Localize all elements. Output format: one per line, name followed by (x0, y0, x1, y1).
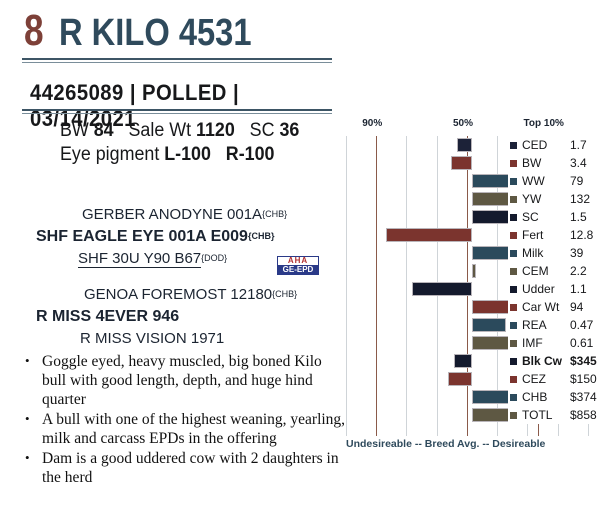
pedigree-sire-dam-sup: {DOD} (201, 253, 227, 263)
legend-trait-value: 1.5 (570, 210, 587, 224)
legend-trait-name: Udder (522, 282, 570, 296)
divider-mid (22, 109, 332, 111)
legend-trait-name: Blk Cw (522, 354, 570, 368)
aha-badge-line1: AHA (278, 257, 318, 265)
chart-legend-row: Car Wt94 (508, 298, 604, 316)
pedigree-sire-sire-name: GERBER ANODYNE 001A (82, 206, 262, 223)
legend-trait-value: 39 (570, 246, 583, 260)
catalog-entry-left-column: 8 R KILO 4531 44265089 | POLLED | 03/14/… (0, 0, 340, 516)
legend-trait-value: 132 (570, 192, 590, 206)
legend-swatch-icon (510, 142, 517, 149)
divider-top-thin (22, 62, 332, 63)
chart-legend-row: CHB$374 (508, 388, 604, 406)
stats-row-eye-pigment: Eye pigment L-100 R-100 (60, 144, 274, 166)
legend-trait-name: TOTL (522, 408, 570, 422)
legend-trait-value: $374 (570, 390, 597, 404)
chart-header-labels: 90%50%Top 10% (340, 118, 604, 136)
aha-ge-epd-badge-icon: AHA GE-EPD (277, 256, 319, 275)
stat-value-sc: 36 (279, 120, 299, 141)
chart-legend-row: CED1.7 (508, 136, 604, 154)
legend-swatch-icon (510, 340, 517, 347)
chart-bar (386, 228, 472, 242)
animal-name: R KILO 4531 (59, 12, 252, 55)
chart-legend-row: BW3.4 (508, 154, 604, 172)
legend-trait-value: $150 (570, 372, 597, 386)
legend-swatch-icon (510, 232, 517, 239)
legend-trait-value: 94 (570, 300, 583, 314)
pedigree-sire-dam: SHF 30U Y90 B67{DOD} (78, 250, 227, 267)
stat-label-eye-pigment: Eye pigment (60, 144, 159, 165)
legend-trait-name: Car Wt (522, 300, 570, 314)
stat-value-eye-pigment-right: R-100 (226, 144, 275, 165)
list-item: Dam is a good uddered cow with 2 daughte… (42, 449, 348, 487)
legend-swatch-icon (510, 376, 517, 383)
legend-trait-name: CED (522, 138, 570, 152)
chart-legend-row: REA0.47 (508, 316, 604, 334)
chart-bar (454, 354, 472, 368)
stat-value-sale-wt: 1120 (196, 120, 235, 141)
pedigree-sire-sire: GERBER ANODYNE 001A{CHB} (82, 206, 287, 223)
chart-legend-row: Milk39 (508, 244, 604, 262)
chart-legend-row: Blk Cw$345 (508, 352, 604, 370)
pedigree-dam-dam: R MISS VISION 1971 (80, 330, 224, 347)
chart-legend-row: Fert12.8 (508, 226, 604, 244)
legend-swatch-icon (510, 160, 517, 167)
chart-legend-row: Udder1.1 (508, 280, 604, 298)
epd-percentile-chart: 90%50%Top 10% CED1.7BW3.4WW79YW132SC1.5F… (340, 118, 604, 458)
legend-trait-value: $345 (570, 354, 597, 368)
chart-bar (472, 318, 506, 332)
legend-trait-name: Fert (522, 228, 570, 242)
legend-swatch-icon (510, 358, 517, 365)
chart-axis-label: 50% (453, 118, 473, 129)
stats-row-weights: BW 84 Sale Wt 1120 SC 36 (60, 120, 299, 142)
legend-trait-value: 0.61 (570, 336, 593, 350)
stat-value-bw: 84 (94, 120, 114, 141)
pedigree-sire-sup: {CHB} (248, 231, 275, 241)
legend-trait-value: $858 (570, 408, 597, 422)
pedigree-sire: SHF EAGLE EYE 001A E009{CHB} (36, 228, 274, 246)
legend-trait-value: 0.47 (570, 318, 593, 332)
chart-axis-label: Top 10% (524, 118, 564, 129)
chart-legend-panel: CED1.7BW3.4WW79YW132SC1.5Fert12.8Milk39C… (508, 136, 604, 424)
legend-trait-name: BW (522, 156, 570, 170)
legend-swatch-icon (510, 214, 517, 221)
pedigree-sire-sire-sup: {CHB} (262, 209, 287, 219)
legend-trait-name: Milk (522, 246, 570, 260)
stat-value-eye-pigment-left: L-100 (164, 144, 211, 165)
chart-legend-row: SC1.5 (508, 208, 604, 226)
chart-axis-label: 90% (362, 118, 382, 129)
legend-trait-name: WW (522, 174, 570, 188)
pedigree-dam: R MISS 4EVER 946 (36, 308, 179, 326)
legend-swatch-icon (510, 304, 517, 311)
legend-trait-value: 2.2 (570, 264, 587, 278)
legend-trait-name: IMF (522, 336, 570, 350)
aha-badge-line2: GE-EPD (278, 265, 318, 274)
pedigree-sire-dam-name: SHF 30U Y90 B67 (78, 250, 201, 268)
stat-label-sale-wt: Sale Wt (129, 120, 192, 141)
list-item: Goggle eyed, heavy muscled, big boned Ki… (42, 352, 348, 409)
legend-trait-value: 79 (570, 174, 583, 188)
chart-bar (412, 282, 472, 296)
pedigree-dam-sire: GENOA FOREMOST 12180{CHB} (84, 286, 297, 303)
legend-swatch-icon (510, 196, 517, 203)
legend-swatch-icon (510, 178, 517, 185)
legend-swatch-icon (510, 394, 517, 401)
legend-trait-name: CHB (522, 390, 570, 404)
divider-top (22, 58, 332, 60)
legend-swatch-icon (510, 286, 517, 293)
pedigree-sire-name: SHF EAGLE EYE 001A E009 (36, 228, 248, 245)
legend-trait-value: 12.8 (570, 228, 593, 242)
lot-number: 8 (24, 6, 43, 56)
chart-bar (451, 156, 472, 170)
chart-legend-row: IMF0.61 (508, 334, 604, 352)
chart-footer-label: Undesireable -- Breed Avg. -- Desireable (346, 438, 604, 450)
pedigree-dam-sire-sup: {CHB} (272, 289, 297, 299)
legend-trait-name: SC (522, 210, 570, 224)
animal-notes: Goggle eyed, heavy muscled, big boned Ki… (18, 352, 348, 488)
legend-trait-name: CEM (522, 264, 570, 278)
chart-legend-row: CEM2.2 (508, 262, 604, 280)
legend-swatch-icon (510, 250, 517, 257)
chart-bar (457, 138, 472, 152)
stat-label-bw: BW (60, 120, 89, 141)
chart-legend-row: WW79 (508, 172, 604, 190)
stat-label-sc: SC (250, 120, 275, 141)
legend-trait-name: REA (522, 318, 570, 332)
chart-bar (472, 264, 476, 278)
chart-legend-row: CEZ$150 (508, 370, 604, 388)
chart-legend-row: TOTL$858 (508, 406, 604, 424)
legend-swatch-icon (510, 268, 517, 275)
legend-swatch-icon (510, 322, 517, 329)
legend-trait-name: YW (522, 192, 570, 206)
chart-legend-row: YW132 (508, 190, 604, 208)
chart-bar (448, 372, 472, 386)
divider-mid-thin (22, 113, 332, 114)
legend-trait-value: 3.4 (570, 156, 587, 170)
pedigree-dam-sire-name: GENOA FOREMOST 12180 (84, 286, 272, 303)
legend-swatch-icon (510, 412, 517, 419)
legend-trait-value: 1.1 (570, 282, 587, 296)
legend-trait-value: 1.7 (570, 138, 587, 152)
lot-header: 8 R KILO 4531 (24, 6, 283, 56)
legend-trait-name: CEZ (522, 372, 570, 386)
list-item: A bull with one of the highest weaning, … (42, 410, 348, 448)
